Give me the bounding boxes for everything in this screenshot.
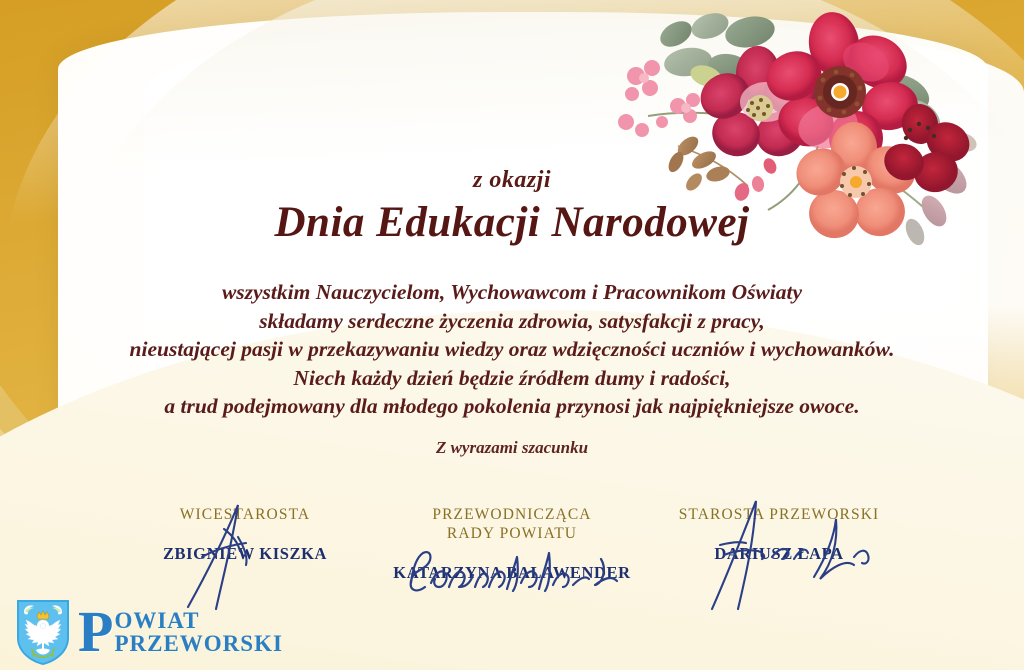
signature-block-starosta: STAROSTA PRZEWORSKI bbox=[654, 505, 904, 564]
certificate-card: z okazji Dnia Edukacji Narodowej wszystk… bbox=[0, 0, 1024, 670]
certificate-content: z okazji Dnia Edukacji Narodowej wszystk… bbox=[0, 0, 1024, 670]
body-line-1: wszystkim Nauczycielom, Wychowawcom i Pr… bbox=[0, 278, 1024, 307]
logo-text-lines: OWIAT PRZEWORSKI bbox=[114, 609, 282, 656]
signature-title: PRZEWODNICZĄCA RADY POWIATU bbox=[387, 505, 637, 543]
handwritten-signature-icon bbox=[387, 539, 637, 649]
signature-row: WICESTAROSTA ZBIGNIEW KISZKA bbox=[120, 505, 904, 583]
signature-title-line: STAROSTA PRZEWORSKI bbox=[654, 505, 904, 524]
occasion-line: z okazji bbox=[0, 167, 1024, 194]
signature-block-wicestarosta: WICESTAROSTA ZBIGNIEW KISZKA bbox=[120, 505, 370, 564]
signature-title-line: PRZEWODNICZĄCA bbox=[387, 505, 637, 524]
body-line-3: nieustającej pasji w przekazywaniu wiedz… bbox=[0, 335, 1024, 364]
body-line-4: Niech każdy dzień będzie źródłem dumy i … bbox=[0, 364, 1024, 393]
logo-line-powiat: OWIAT bbox=[114, 609, 282, 632]
page-title: Dnia Edukacji Narodowej bbox=[0, 198, 1024, 247]
signature-name: DARIUSZ ŁAPA bbox=[654, 544, 904, 564]
signature-name: ZBIGNIEW KISZKA bbox=[120, 544, 370, 564]
logo-dropcap: P bbox=[78, 605, 113, 659]
signature-title: STAROSTA PRZEWORSKI bbox=[654, 505, 904, 524]
signature-block-przewodniczaca: PRZEWODNICZĄCA RADY POWIATU bbox=[387, 505, 637, 583]
signature-title-line: RADY POWIATU bbox=[387, 524, 637, 543]
powiat-przeworski-logo: P OWIAT PRZEWORSKI bbox=[14, 598, 283, 666]
logo-wordmark: P OWIAT PRZEWORSKI bbox=[78, 605, 283, 659]
signature-title: WICESTAROSTA bbox=[120, 505, 370, 524]
coat-of-arms-icon bbox=[14, 598, 72, 666]
body-line-5: a trud podejmowany dla młodego pokolenia… bbox=[0, 392, 1024, 421]
body-line-2: składamy serdeczne życzenia zdrowia, sat… bbox=[0, 307, 1024, 336]
regards-line: Z wyrazami szacunku bbox=[0, 438, 1024, 458]
signature-title-line: WICESTAROSTA bbox=[120, 505, 370, 524]
signature-name: KATARZYNA BALAWENDER bbox=[387, 563, 637, 583]
body-text: wszystkim Nauczycielom, Wychowawcom i Pr… bbox=[0, 278, 1024, 421]
logo-line-przeworski: PRZEWORSKI bbox=[114, 632, 282, 655]
